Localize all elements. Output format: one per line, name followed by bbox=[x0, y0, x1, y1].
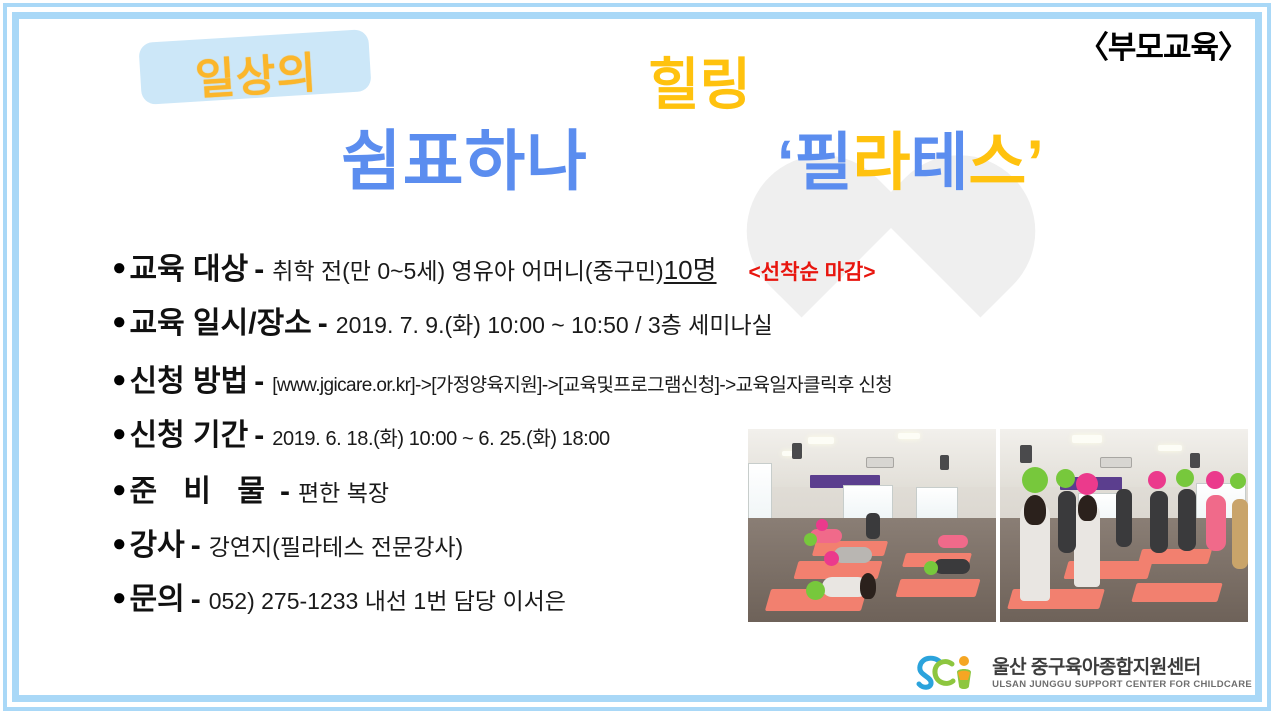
exercise-ball bbox=[1148, 471, 1166, 489]
title-main: 쉼표하나 bbox=[341, 108, 588, 204]
info-value-contact: 052) 275-1233 내선 1번 담당 이서은 bbox=[209, 582, 566, 616]
bullet-icon: ● bbox=[112, 310, 127, 334]
bullet-icon: ● bbox=[112, 368, 127, 392]
title-healing: 힐링 bbox=[648, 40, 751, 121]
info-dash: - bbox=[254, 365, 264, 399]
exercise-ball bbox=[1022, 467, 1048, 493]
participant bbox=[1206, 495, 1226, 551]
participant-hair bbox=[1078, 495, 1097, 521]
participant bbox=[938, 535, 968, 548]
exercise-ball bbox=[806, 581, 825, 600]
program-char-3: 테 bbox=[910, 128, 968, 198]
pilates-photo-left bbox=[748, 429, 996, 622]
exercise-ball bbox=[1176, 469, 1194, 487]
wall-speaker bbox=[940, 455, 949, 470]
participant-hair bbox=[1024, 495, 1046, 525]
program-char-2: 라 bbox=[852, 128, 910, 198]
projector bbox=[866, 457, 894, 468]
program-char-4: 스 bbox=[968, 128, 1026, 198]
daily-badge-label: 일상의 bbox=[154, 36, 357, 110]
program-quote-open: ‘ bbox=[777, 128, 795, 198]
logo-text-block: 울산 중구육아종합지원센터 ULSAN JUNGGU SUPPORT CENTE… bbox=[992, 658, 1252, 690]
target-capacity: 10명 bbox=[664, 255, 717, 285]
participant bbox=[1058, 491, 1076, 553]
participant bbox=[1150, 491, 1168, 553]
participant bbox=[1116, 489, 1132, 547]
organization-logo: 울산 중구육아종합지원센터 ULSAN JUNGGU SUPPORT CENTE… bbox=[914, 652, 1252, 696]
info-label-instructor: 강사 bbox=[130, 520, 185, 564]
logo-name-en: ULSAN JUNGGU SUPPORT CENTER FOR CHILDCAR… bbox=[992, 679, 1252, 690]
info-value-apply-period: 2019. 6. 18.(화) 10:00 ~ 6. 25.(화) 18:00 bbox=[272, 422, 610, 451]
program-quote-close: ’ bbox=[1026, 128, 1044, 198]
exercise-mat bbox=[1131, 583, 1222, 602]
logo-name-ko: 울산 중구육아종합지원센터 bbox=[992, 658, 1252, 679]
exercise-ball bbox=[1076, 473, 1098, 495]
category-tag: 〈부모교육〉 bbox=[1078, 22, 1248, 67]
participant-hair bbox=[860, 573, 876, 599]
info-dash: - bbox=[280, 475, 290, 509]
exercise-ball bbox=[804, 533, 817, 546]
info-dash: - bbox=[191, 583, 201, 617]
exercise-mat bbox=[895, 579, 980, 597]
title-program: ‘필라테스’ bbox=[777, 112, 1044, 203]
first-come-note: <선착순 마감> bbox=[749, 256, 876, 286]
info-value-instructor: 강연지(필라테스 전문강사) bbox=[209, 528, 463, 562]
info-value-apply-method: [www.jgicare.or.kr]->[가정양육지원]->[교육및프로그램신… bbox=[272, 370, 892, 397]
exercise-ball bbox=[1230, 473, 1246, 489]
info-row-datetime: ● 교육 일시/장소 - 2019. 7. 9.(화) 10:00 ~ 10:5… bbox=[112, 298, 1172, 350]
target-description: 취학 전(만 0~5세) 영유아 어머니(중구민) bbox=[272, 258, 663, 284]
pilates-photo-right bbox=[1000, 429, 1248, 622]
info-label-apply-period: 신청 기간 bbox=[130, 410, 249, 454]
projector bbox=[1100, 457, 1132, 468]
bullet-icon: ● bbox=[112, 422, 127, 446]
ceiling-light bbox=[808, 437, 834, 444]
bullet-icon: ● bbox=[112, 256, 127, 280]
exercise-ball bbox=[1206, 471, 1224, 489]
info-label-apply-method: 신청 방법 bbox=[130, 356, 249, 400]
info-dash: - bbox=[191, 529, 201, 563]
wall-speaker bbox=[1190, 453, 1200, 468]
info-value-datetime: 2019. 7. 9.(화) 10:00 ~ 10:50 / 3층 세미나실 bbox=[336, 306, 773, 340]
info-row-apply-method: ● 신청 방법 - [www.jgicare.or.kr]->[가정양육지원]-… bbox=[112, 356, 1172, 404]
ceiling-light bbox=[1158, 445, 1182, 451]
participant bbox=[934, 559, 970, 574]
exercise-ball bbox=[924, 561, 938, 575]
sc-logo-icon bbox=[914, 652, 982, 696]
ceiling-light bbox=[898, 433, 920, 439]
bullet-icon: ● bbox=[112, 478, 127, 502]
program-char-1: 필 bbox=[795, 128, 853, 198]
exercise-mat bbox=[1138, 549, 1212, 564]
exercise-ball bbox=[1056, 469, 1075, 488]
info-value-target: 취학 전(만 0~5세) 영유아 어머니(중구민)10명 bbox=[272, 250, 716, 287]
info-dash: - bbox=[318, 307, 328, 341]
info-label-datetime: 교육 일시/장소 bbox=[130, 298, 312, 342]
participant bbox=[834, 547, 872, 563]
info-label-target: 교육 대상 bbox=[130, 244, 249, 288]
wall-speaker bbox=[1020, 445, 1032, 463]
info-row-target: ● 교육 대상 - 취학 전(만 0~5세) 영유아 어머니(중구민)10명 <… bbox=[112, 244, 1172, 292]
info-dash: - bbox=[254, 253, 264, 287]
ceiling-light bbox=[1072, 435, 1102, 443]
photo-collage bbox=[748, 429, 1248, 622]
bullet-icon: ● bbox=[112, 532, 127, 556]
info-dash: - bbox=[254, 419, 264, 453]
exercise-ball bbox=[824, 551, 839, 566]
info-label-preparation: 준 비 물 bbox=[130, 466, 274, 510]
info-value-preparation: 편한 복장 bbox=[298, 474, 389, 508]
participant bbox=[1232, 499, 1248, 569]
poster-canvas: 〈부모교육〉 일상의 힐링 쉼표하나 ‘필라테스’ ● 교육 대상 - 취학 전… bbox=[0, 0, 1280, 720]
exercise-ball bbox=[816, 519, 828, 531]
bullet-icon: ● bbox=[112, 586, 127, 610]
wall-speaker bbox=[792, 443, 802, 459]
info-label-contact: 문의 bbox=[130, 574, 185, 618]
participant bbox=[1178, 489, 1196, 551]
participant bbox=[866, 513, 880, 539]
